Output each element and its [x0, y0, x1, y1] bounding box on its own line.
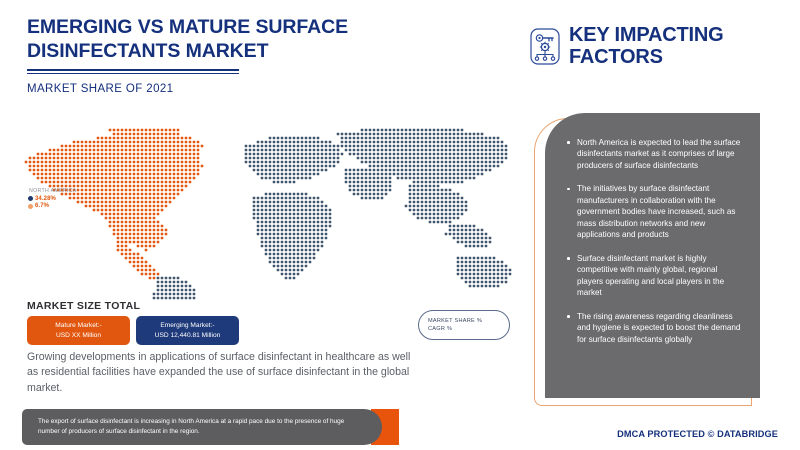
- market-share-cagr-box: Market Share % CAGR %: [418, 310, 510, 340]
- market-share-label: Market Share %: [428, 318, 482, 324]
- market-size-heading: Market Size Total: [27, 300, 140, 312]
- page-subtitle: Market Share of 2021: [27, 83, 497, 95]
- key-gear-network-icon: [530, 28, 560, 65]
- key-factors-card: North America is expected to lead the su…: [545, 113, 760, 398]
- map-legend-cagr-value: 6.7%: [35, 203, 49, 209]
- mature-market-label: Mature Market:-: [55, 321, 102, 331]
- key-factors-header: Key Impacting Factors: [530, 24, 774, 69]
- list-item: Surface disinfectant market is highly co…: [567, 253, 744, 299]
- banner-text: The export of surface disinfectant is in…: [22, 417, 382, 437]
- key-factors-list: North America is expected to lead the su…: [567, 137, 744, 345]
- map-legend-row-cagr: 6.7%: [28, 203, 158, 209]
- list-item: The initiatives by surface disinfectant …: [567, 183, 744, 240]
- emerging-market-label: Emerging Market:-: [160, 321, 214, 331]
- market-size-pills: Mature Market:- USD XX Million Emerging …: [27, 316, 239, 345]
- key-factors-title: Key Impacting Factors: [569, 24, 774, 69]
- infographic-page: Emerging vs Mature Surface Disinfectants…: [0, 0, 800, 450]
- map-legend-share-value: 34.28%: [35, 196, 56, 202]
- footer-credit: DMCA Protected © Databridge: [617, 429, 778, 439]
- insight-banner: The export of surface disinfectant is in…: [22, 409, 399, 445]
- cagr-label: CAGR %: [428, 326, 452, 332]
- mature-market-pill: Mature Market:- USD XX Million: [27, 316, 130, 345]
- banner-body: The export of surface disinfectant is in…: [22, 409, 382, 445]
- lead-paragraph: Growing developments in applications of …: [27, 350, 422, 396]
- map-legend-region: North America: [28, 188, 158, 194]
- orange-dot-icon: [28, 204, 33, 209]
- list-item: North America is expected to lead the su…: [567, 137, 744, 171]
- navy-dot-icon: [28, 196, 33, 201]
- map-legend: North America 34.28% 6.7%: [28, 188, 158, 209]
- list-item: The rising awareness regarding cleanline…: [567, 311, 744, 345]
- title-block: Emerging vs Mature Surface Disinfectants…: [27, 16, 497, 95]
- emerging-market-pill: Emerging Market:- USD 12,440.81 Million: [136, 316, 239, 345]
- emerging-market-value: USD 12,440.81 Million: [155, 331, 221, 341]
- page-title: Emerging vs Mature Surface Disinfectants…: [27, 16, 447, 64]
- title-divider: [27, 69, 239, 75]
- map-legend-row-share: 34.28%: [28, 196, 158, 202]
- mature-market-value: USD XX Million: [56, 331, 101, 341]
